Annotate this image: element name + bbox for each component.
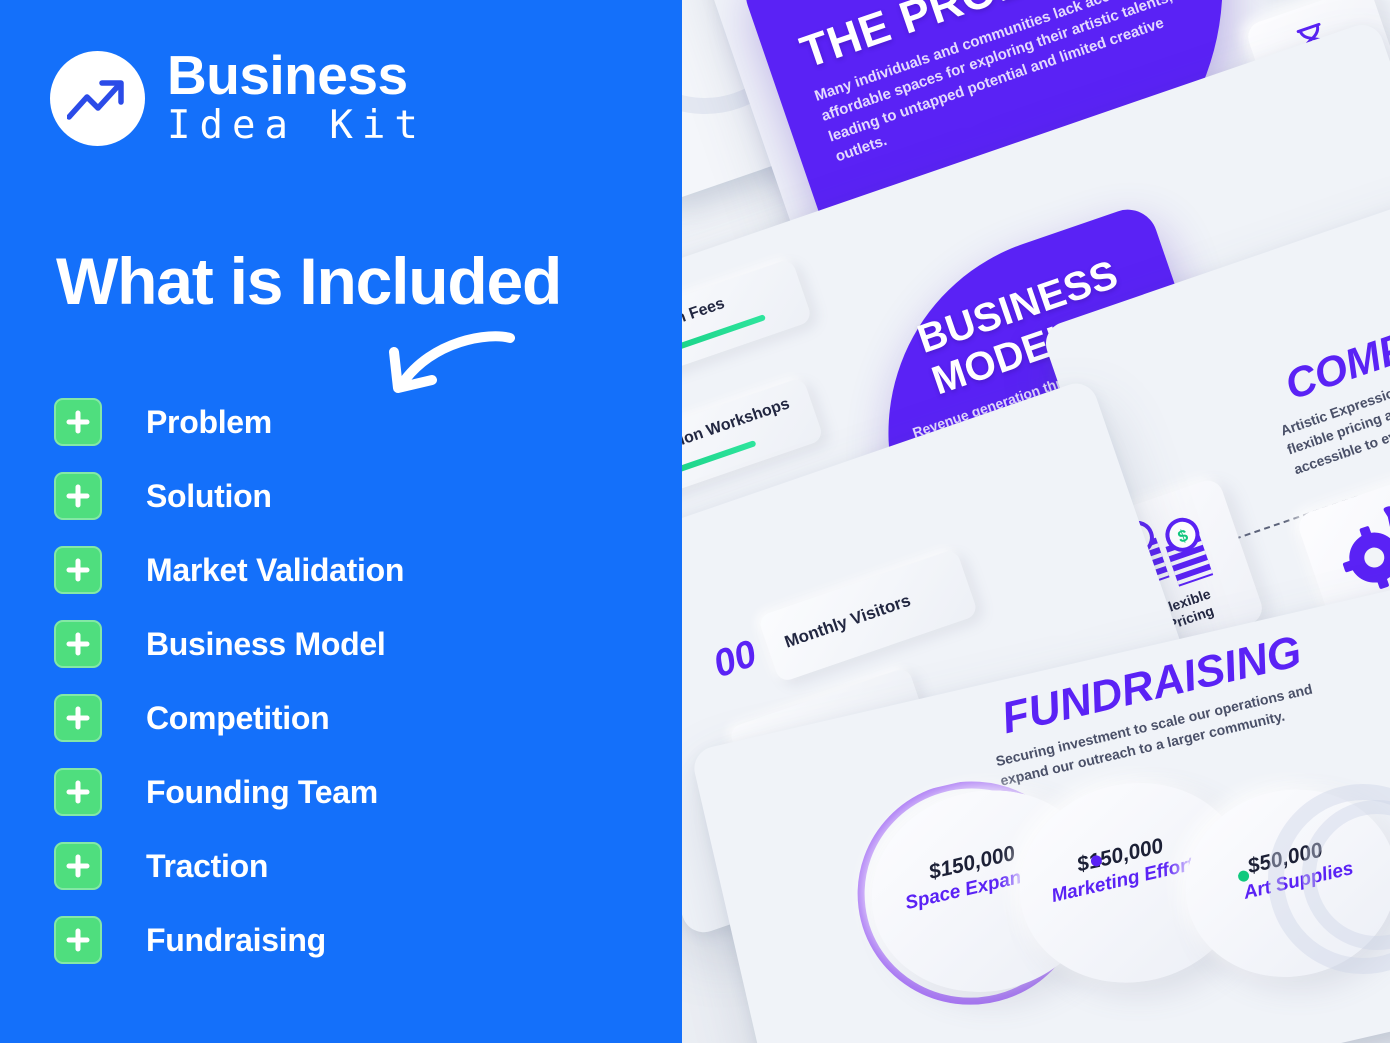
list-item[interactable]: Competition: [54, 681, 404, 755]
list-item[interactable]: Market Validation: [54, 533, 404, 607]
list-item[interactable]: Business Model: [54, 607, 404, 681]
plus-icon: [54, 546, 102, 594]
traction-metric-value: 00: [708, 633, 762, 687]
logo-circle: [50, 51, 145, 146]
list-item-label: Traction: [146, 848, 268, 885]
plus-icon: [54, 398, 102, 446]
brand-logo: Business Idea Kit: [50, 48, 427, 149]
list-item-label: Problem: [146, 404, 272, 441]
list-item-label: Market Validation: [146, 552, 404, 589]
list-item-label: Founding Team: [146, 774, 378, 811]
list-item[interactable]: Problem: [54, 385, 404, 459]
brand-name-primary: Business: [167, 48, 427, 103]
plus-icon: [54, 472, 102, 520]
plus-icon: [54, 916, 102, 964]
plus-icon: [54, 842, 102, 890]
plus-icon: [54, 694, 102, 742]
page-title: What is Included: [56, 248, 561, 314]
list-item-label: Solution: [146, 478, 272, 515]
plus-icon: [54, 620, 102, 668]
gears-icon: [1316, 486, 1390, 608]
list-item[interactable]: Traction: [54, 829, 404, 903]
plus-icon: [54, 768, 102, 816]
list-item[interactable]: Fundraising: [54, 903, 404, 977]
list-item[interactable]: Solution: [54, 459, 404, 533]
list-item-label: Fundraising: [146, 922, 326, 959]
left-info-panel: Business Idea Kit What is Included Probl…: [0, 0, 682, 1043]
list-item-label: Business Model: [146, 626, 385, 663]
trend-up-arrow-icon: [67, 75, 129, 123]
brand-name-secondary: Idea Kit: [167, 103, 427, 149]
list-item-label: Competition: [146, 700, 329, 737]
included-items-list: Problem Solution Market Validation Busin…: [54, 385, 404, 977]
list-item[interactable]: Founding Team: [54, 755, 404, 829]
